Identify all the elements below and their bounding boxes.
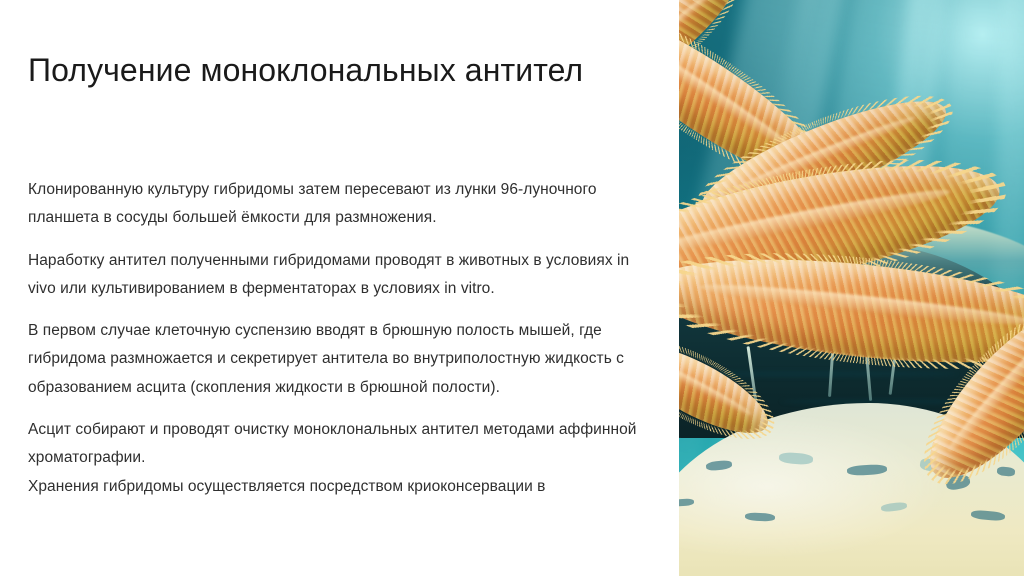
body-paragraph-2: Наработку антител полученными гибридомам… (28, 247, 653, 304)
ciliated-organism (679, 242, 1024, 380)
slide-text-column: Получение моноклональных антител Клониро… (0, 0, 679, 576)
organism-group (679, 0, 1024, 576)
microbiology-illustration (679, 0, 1024, 576)
slide-title: Получение моноклональных антител (28, 44, 628, 96)
slide-canvas: Получение моноклональных антител Клониро… (0, 0, 1024, 576)
body-paragraph-4: Асцит собирают и проводят очистку монокл… (28, 416, 653, 473)
body-paragraph-3: В первом случае клеточную суспензию ввод… (28, 317, 653, 402)
body-paragraph-1: Клонированную культуру гибридомы затем п… (28, 176, 653, 233)
slide-body: Клонированную культуру гибридомы затем п… (28, 176, 653, 501)
body-paragraph-5: Хранения гибридомы осуществляется посред… (28, 473, 653, 501)
